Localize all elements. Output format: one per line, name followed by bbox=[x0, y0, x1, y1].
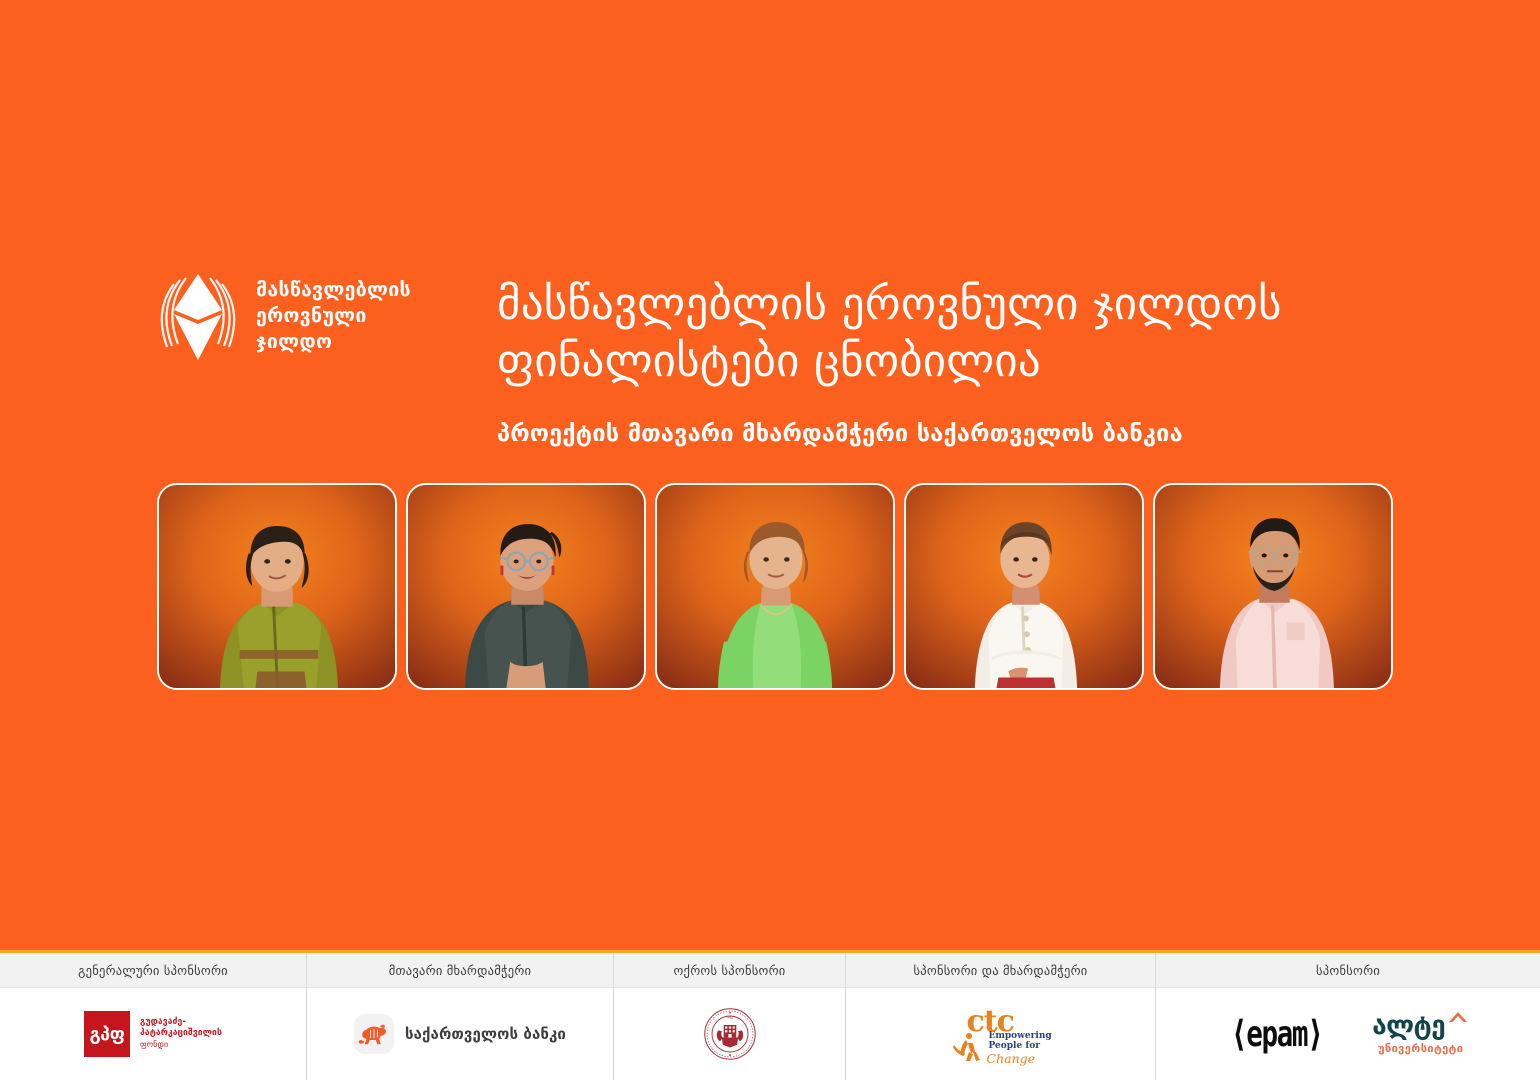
alte-logo-main: ალტე bbox=[1372, 1013, 1469, 1039]
headline-block: მასწავლებლის ეროვნული ჯილდოს ფინალისტები… bbox=[497, 276, 1427, 449]
ctc-logo-tagline: Empowering People for bbox=[989, 1032, 1052, 1052]
page-title: მასწავლებლის ეროვნული ჯილდოს ფინალისტები… bbox=[497, 276, 1427, 389]
sponsor-logo-slot-2: საქართველოს ბანკი bbox=[307, 988, 613, 1080]
sponsor-logo-slot-1: გპფ გუდავაძე- პატარკაციშვილის ფონდი bbox=[0, 988, 306, 1080]
sponsor-logo-slot-4: ctc Empowering People for Change bbox=[846, 988, 1155, 1080]
gpf-logo-text-sub: ფონდი bbox=[140, 1040, 168, 1049]
sponsor-footer: გენერალური სპონსორი გპფ გუდავაძე- პატარკ… bbox=[0, 950, 1540, 1080]
sponsor-tier-label-5: სპონსორი bbox=[1156, 953, 1540, 988]
alte-chevron-icon bbox=[1447, 1010, 1469, 1024]
svg-text:თსუ: თსუ bbox=[727, 1016, 733, 1020]
alte-logo-subtext: უნივერსიტეტი bbox=[1378, 1042, 1463, 1055]
ctc-logo-change-word: Change bbox=[987, 1051, 1036, 1066]
sponsor-logo-slot-3: თსუ bbox=[614, 988, 845, 1080]
bank-of-georgia-logo[interactable]: საქართველოს ბანკი bbox=[354, 1014, 566, 1054]
sponsor-tier-label-4: სპონსორი და მხარდამჭერი bbox=[846, 953, 1155, 988]
ctc-logo[interactable]: ctc Empowering People for Change bbox=[953, 1005, 1049, 1063]
sponsor-tier-label-1: გენერალური სპონსორი bbox=[0, 953, 306, 988]
sponsor-tier-text-1: გენერალური სპონსორი bbox=[78, 963, 228, 978]
page-subtitle: პროექტის მთავარი მხარდამჭერი საქართველოს… bbox=[497, 419, 1427, 448]
alte-university-logo[interactable]: ალტე უნივერსიტეტი bbox=[1372, 1013, 1469, 1055]
finalist-portrait-3 bbox=[655, 483, 895, 690]
finalist-portrait-1 bbox=[157, 483, 397, 690]
epam-logo[interactable]: ⟨epam⟩ bbox=[1231, 1013, 1322, 1055]
bank-of-georgia-lion-icon bbox=[354, 1014, 394, 1054]
sponsor-tier-text-3: ოქროს სპონსორი bbox=[673, 963, 785, 978]
brand-wordmark: მასწავლებლის ეროვნული ჯილდო bbox=[256, 277, 411, 355]
alte-logo-wordmark: ალტე bbox=[1372, 1013, 1445, 1039]
gpf-logo[interactable]: გპფ გუდავაძე- პატარკაციშვილის ფონდი bbox=[84, 1011, 222, 1057]
finalist-portrait-5 bbox=[1153, 483, 1393, 690]
finalist-portrait-4 bbox=[904, 483, 1144, 690]
tsu-seal-logo[interactable]: თსუ bbox=[703, 1007, 757, 1061]
sponsor-tier-text-5: სპონსორი bbox=[1316, 963, 1380, 978]
gpf-logo-mark: გპფ bbox=[84, 1011, 130, 1057]
finalist-portrait-2 bbox=[406, 483, 646, 690]
sponsor-logo-slot-5: ⟨epam⟩ ალტე უნივერსიტეტი bbox=[1156, 988, 1540, 1080]
sponsor-tier-label-3: ოქროს სპონსორი bbox=[614, 953, 845, 988]
sponsor-tier-text-4: სპონსორი და მხარდამჭერი bbox=[913, 963, 1087, 978]
hero-banner: მასწავლებლის ეროვნული ჯილდო მასწავლებლის… bbox=[0, 0, 1540, 950]
sponsor-column-general: გენერალური სპონსორი გპფ გუდავაძე- პატარკ… bbox=[0, 953, 307, 1080]
gpf-logo-text-wrap: გუდავაძე- პატარკაციშვილის ფონდი bbox=[140, 1017, 222, 1052]
sponsor-column-sponsor: სპონსორი ⟨epam⟩ ალტე უნივერსიტეტი bbox=[1156, 953, 1540, 1080]
sponsor-tier-label-2: მთავარი მხარდამჭერი bbox=[307, 953, 613, 988]
bank-of-georgia-logo-text: საქართველოს ბანკი bbox=[405, 1025, 566, 1043]
sponsor-column-gold: ოქროს სპონსორი bbox=[614, 953, 846, 1080]
brand-lockup: მასწავლებლის ეროვნული ჯილდო bbox=[156, 270, 411, 362]
gpf-logo-text: გუდავაძე- პატარკაციშვილის bbox=[140, 1017, 222, 1040]
teachers-guild-emblem-icon bbox=[156, 270, 240, 362]
finalist-portrait-strip bbox=[157, 483, 1393, 690]
sponsor-tier-text-2: მთავარი მხარდამჭერი bbox=[389, 963, 532, 978]
sponsor-column-main-supporter: მთავარი მხარდამჭერი საქ bbox=[307, 953, 614, 1080]
sponsor-column-sponsor-supporter: სპონსორი და მხარდამჭერი ctc Empowering P… bbox=[846, 953, 1156, 1080]
